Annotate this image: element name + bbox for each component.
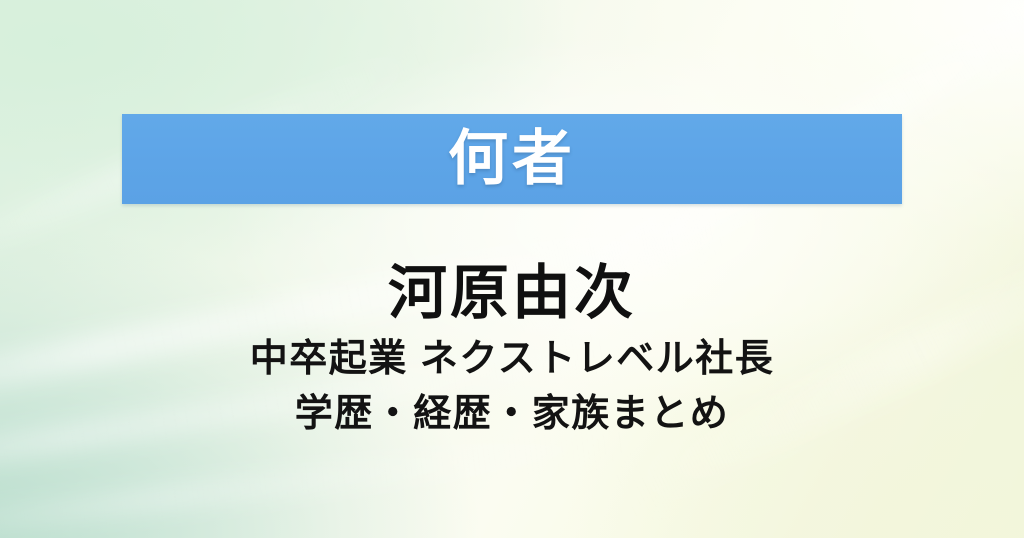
banner-title-text: 何者 (448, 129, 576, 189)
person-name: 河原由次 (0, 262, 1024, 326)
subtitle-line-1: 中卒起業 ネクストレベル社長 (0, 332, 1024, 387)
content-text-block: 河原由次 中卒起業 ネクストレベル社長 学歴・経歴・家族まとめ (0, 262, 1024, 442)
title-banner: 何者 (122, 114, 902, 204)
subtitle-line-2: 学歴・経歴・家族まとめ (0, 387, 1024, 442)
thumbnail-canvas: 何者 河原由次 中卒起業 ネクストレベル社長 学歴・経歴・家族まとめ (0, 0, 1024, 538)
